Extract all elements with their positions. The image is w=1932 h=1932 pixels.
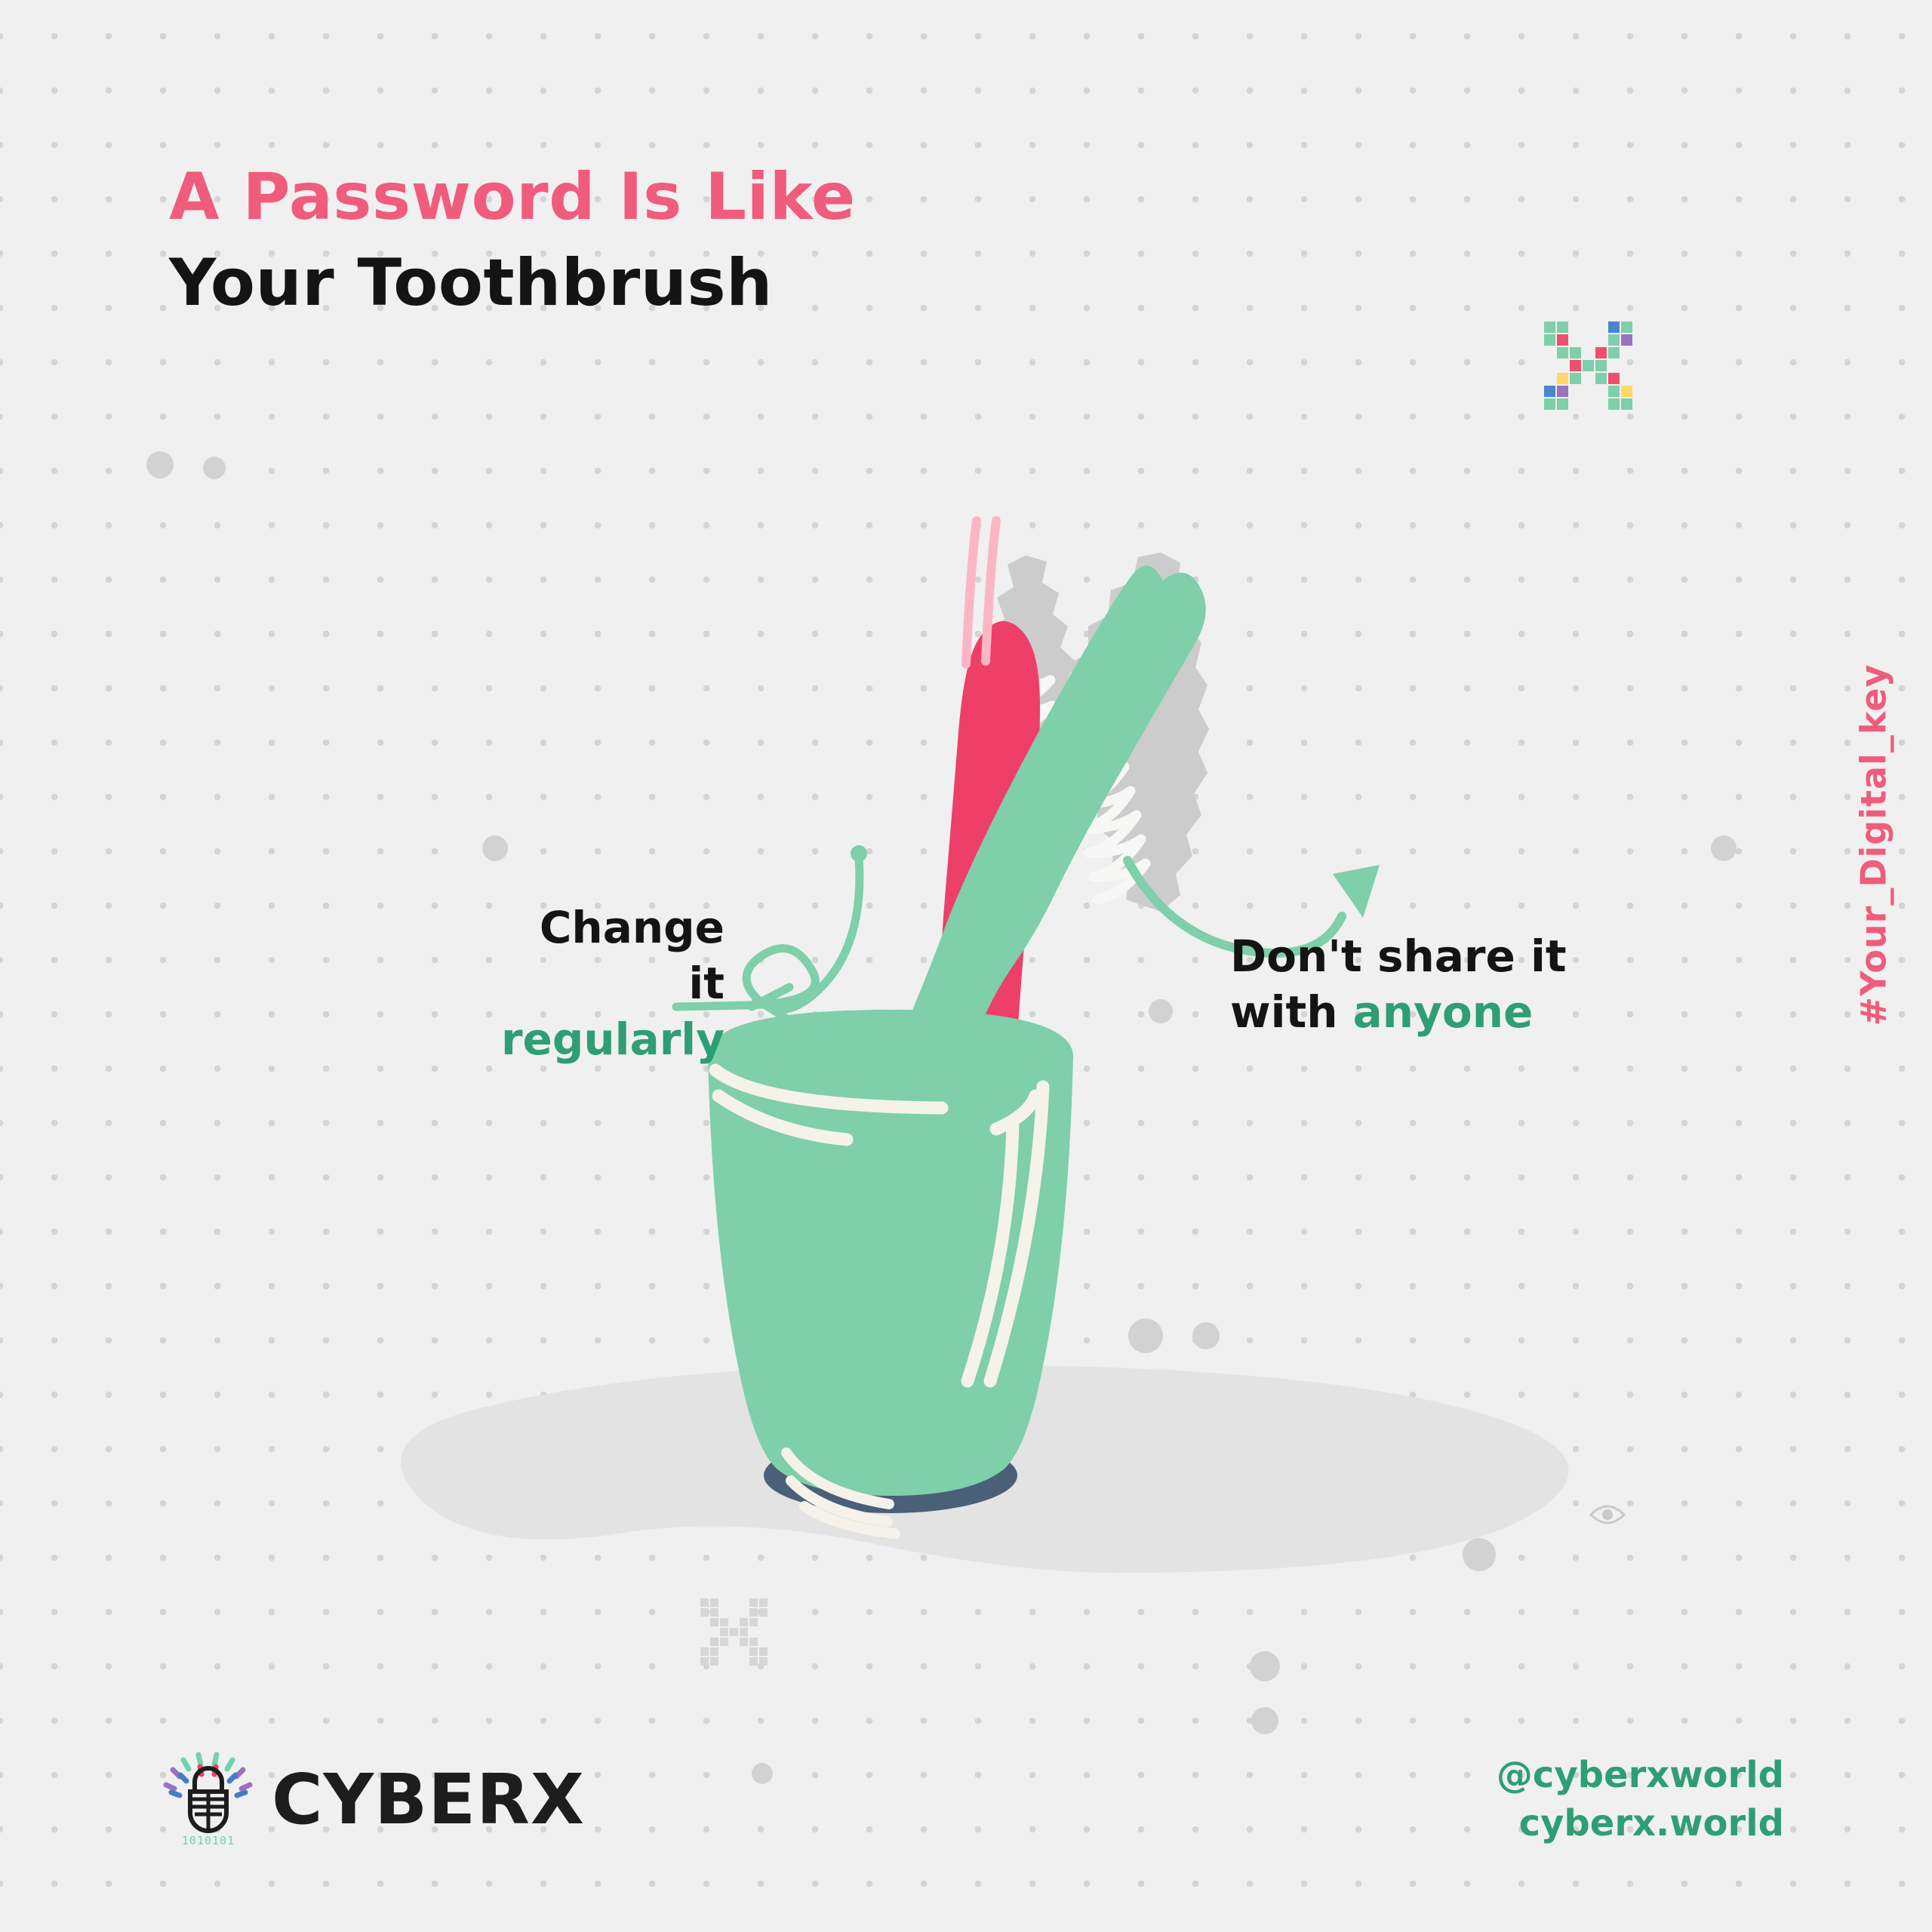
pixel-cell: [749, 1647, 758, 1656]
callout-dont-share: Don't share it with anyone: [1230, 928, 1607, 1040]
headline-line-1: A Password Is Like: [169, 160, 856, 235]
pixel-cell: [749, 1638, 758, 1646]
pixel-cell: [1608, 347, 1620, 358]
pixel-cell: [1544, 321, 1555, 333]
background-dot: [1251, 1707, 1278, 1734]
pixel-cell: [759, 1657, 768, 1666]
eye-icon: [1589, 1503, 1626, 1526]
brand-footer: 1010101 CYBERX: [155, 1748, 585, 1850]
pixel-cell: [1621, 398, 1632, 410]
pixel-cell: [730, 1628, 738, 1636]
pixel-cell: [1595, 347, 1607, 358]
pixel-cell: [710, 1657, 718, 1666]
poster-canvas: A Password Is Like Your Toothbrush #Your…: [0, 0, 1932, 1932]
pixel-cell: [1557, 398, 1568, 410]
pixel-cell: [720, 1638, 728, 1646]
pixel-cell: [1570, 347, 1581, 358]
pixel-cell: [1608, 321, 1620, 333]
background-dot: [1711, 835, 1737, 861]
pixel-cell: [759, 1608, 768, 1617]
page-title: A Password Is Like Your Toothbrush: [169, 160, 856, 321]
social-handles: @cyberxworld cyberx.world: [1497, 1752, 1784, 1847]
pixel-cell: [720, 1628, 728, 1636]
pixel-cell: [1557, 386, 1568, 397]
background-dot: [1128, 1318, 1163, 1353]
headline-line-2: Your Toothbrush: [169, 246, 856, 321]
pixel-cell: [1608, 386, 1620, 397]
pixel-cell: [1544, 334, 1555, 346]
pixel-cell: [1570, 373, 1581, 384]
background-dot: [203, 457, 226, 479]
pixel-cell: [700, 1608, 709, 1617]
pixel-cell: [759, 1647, 768, 1656]
background-dot: [1460, 1426, 1499, 1466]
brand-wordmark-text: CYBERX: [272, 1759, 585, 1840]
pixel-cell: [1544, 386, 1555, 397]
pixel-cell: [710, 1647, 718, 1656]
background-dot: [1250, 1651, 1280, 1681]
background-dot: [1463, 1538, 1496, 1571]
pixel-cell: [710, 1618, 718, 1626]
pixel-cell: [1557, 321, 1568, 333]
pixel-cell: [700, 1657, 709, 1666]
callout-right-line1: Don't share it: [1230, 928, 1607, 984]
callout-right-line2-plain: with: [1230, 986, 1353, 1038]
pixel-cell: [1595, 373, 1607, 384]
pixel-cell: [1557, 373, 1568, 384]
callout-right-line2: with anyone: [1230, 984, 1607, 1040]
callout-left-line1: Change it: [498, 900, 724, 1011]
callout-left-line2: regularly: [498, 1011, 724, 1067]
pixel-cell: [700, 1647, 709, 1656]
social-handle[interactable]: @cyberxworld: [1497, 1752, 1784, 1799]
pixel-cell: [720, 1618, 728, 1626]
pixel-cell: [1608, 334, 1620, 346]
pixel-cell: [710, 1598, 718, 1607]
pixel-cell: [1608, 373, 1620, 384]
pixel-cell: [1583, 360, 1594, 371]
pixel-cell: [749, 1618, 758, 1626]
background-dot: [1192, 1322, 1220, 1349]
brand-wordmark: CYBERX: [272, 1759, 585, 1840]
pixel-cell: [1557, 334, 1568, 346]
pixel-cell: [1621, 386, 1632, 397]
background-dot: [482, 835, 508, 861]
pixel-cell: [749, 1598, 758, 1607]
background-dot: [752, 1763, 773, 1784]
pixel-cell: [710, 1608, 718, 1617]
background-dot: [146, 451, 174, 478]
pixel-cell: [710, 1638, 718, 1646]
pixel-cell: [1544, 398, 1555, 410]
pixel-x-mark-accent-icon: [1544, 321, 1634, 411]
pixel-cell: [1595, 360, 1607, 371]
callout-right-line2-highlight: anyone: [1353, 986, 1534, 1038]
callout-change-regularly: Change it regularly: [498, 900, 724, 1068]
logo-binary-text: 1010101: [182, 1834, 235, 1847]
pixel-cell: [749, 1608, 758, 1617]
background-dot: [1149, 999, 1173, 1023]
pixel-cell: [740, 1618, 748, 1626]
pixel-cell: [1557, 347, 1568, 358]
website-url[interactable]: cyberx.world: [1497, 1800, 1784, 1847]
pixel-x-mark-watermark-icon: [700, 1598, 769, 1667]
pixel-cell: [1570, 360, 1581, 371]
pixel-cell: [1621, 334, 1632, 346]
pixel-cell: [1621, 321, 1632, 333]
pixel-cell: [700, 1598, 709, 1607]
hashtag-label: #Your_Digital_key: [1854, 664, 1894, 1026]
pixel-cell: [759, 1598, 768, 1607]
cyberx-logo-icon: 1010101: [155, 1748, 258, 1850]
pixel-cell: [749, 1657, 758, 1666]
pixel-cell: [1608, 398, 1620, 410]
pixel-cell: [740, 1628, 748, 1636]
pixel-cell: [740, 1638, 748, 1646]
